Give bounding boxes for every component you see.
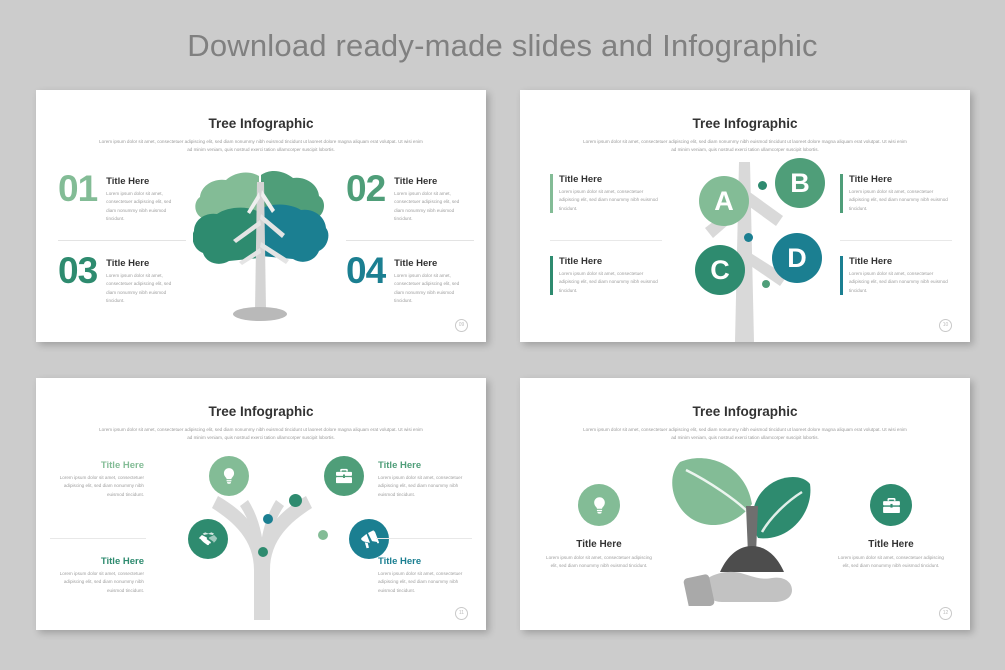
item-number: 02 bbox=[346, 172, 385, 206]
icon-circle-briefcase[interactable] bbox=[870, 484, 912, 526]
item-number: 01 bbox=[58, 172, 97, 206]
slide-4-title: Tree Infographic bbox=[520, 404, 970, 419]
divider-right bbox=[376, 538, 472, 539]
icon-circle-handshake[interactable] bbox=[188, 519, 228, 559]
accent-dot bbox=[289, 494, 302, 507]
page-number-badge: 11 bbox=[455, 607, 468, 620]
item-title: Title Here bbox=[559, 174, 662, 185]
accent-dot bbox=[744, 233, 753, 242]
item-title: Title Here bbox=[106, 176, 182, 187]
item-body: Lorem ipsum dolor sit amet, consectetuer… bbox=[106, 190, 182, 223]
slide-2-item-3[interactable]: Title Here Lorem ipsum dolor sit amet, c… bbox=[550, 256, 662, 295]
handshake-icon bbox=[197, 528, 219, 550]
slide-card-3[interactable]: Tree Infographic Lorem ipsum dolor sit a… bbox=[36, 378, 486, 630]
item-title: Title Here bbox=[394, 258, 470, 269]
item-number: 04 bbox=[346, 254, 385, 288]
slide-1-item-3[interactable]: 03 Title Here Lorem ipsum dolor sit amet… bbox=[58, 254, 182, 305]
page-title: Download ready-made slides and Infograph… bbox=[0, 28, 1005, 64]
item-title: Title Here bbox=[559, 256, 662, 267]
item-number: 03 bbox=[58, 254, 97, 288]
slide-4-item-1[interactable]: Title Here Lorem ipsum dolor sit amet, c… bbox=[544, 484, 654, 571]
divider-right bbox=[840, 240, 952, 241]
lightbulb-icon bbox=[589, 495, 610, 516]
divider-left bbox=[58, 240, 186, 241]
slide-1-item-4[interactable]: 04 Title Here Lorem ipsum dolor sit amet… bbox=[346, 254, 470, 305]
accent-dot bbox=[318, 530, 328, 540]
item-body: Lorem ipsum dolor sit amet, consectetuer… bbox=[559, 188, 662, 213]
item-body: Lorem ipsum dolor sit amet, consectetuer… bbox=[849, 270, 952, 295]
slide-1-item-1[interactable]: 01 Title Here Lorem ipsum dolor sit amet… bbox=[58, 172, 182, 223]
item-body: Lorem ipsum dolor sit amet, consectetuer… bbox=[394, 272, 470, 305]
item-title: Title Here bbox=[54, 556, 144, 567]
slide-card-1[interactable]: Tree Infographic Lorem ipsum dolor sit a… bbox=[36, 90, 486, 342]
briefcase-icon bbox=[881, 495, 902, 516]
slide-3-item-4[interactable]: Title Here Lorem ipsum dolor sit amet, c… bbox=[378, 556, 468, 595]
slide-4-item-2[interactable]: Title Here Lorem ipsum dolor sit amet, c… bbox=[836, 484, 946, 571]
megaphone-icon bbox=[359, 529, 380, 550]
slide-2-item-2[interactable]: Title Here Lorem ipsum dolor sit amet, c… bbox=[840, 174, 952, 213]
item-title: Title Here bbox=[394, 176, 470, 187]
item-title: Title Here bbox=[849, 256, 952, 267]
letter-circle-d[interactable]: D bbox=[772, 233, 822, 283]
accent-dot bbox=[263, 514, 273, 524]
slide-1-subtitle: Lorem ipsum dolor sit amet, consectetuer… bbox=[96, 138, 426, 154]
slide-1-title: Tree Infographic bbox=[36, 116, 486, 131]
icon-circle-lightbulb[interactable] bbox=[209, 456, 249, 496]
slide-3-item-2[interactable]: Title Here Lorem ipsum dolor sit amet, c… bbox=[378, 460, 468, 499]
item-body: Lorem ipsum dolor sit amet, consectetuer… bbox=[106, 272, 182, 305]
item-body: Lorem ipsum dolor sit amet, consectetuer… bbox=[54, 570, 144, 595]
item-body: Lorem ipsum dolor sit amet, consectetuer… bbox=[544, 554, 654, 571]
item-body: Lorem ipsum dolor sit amet, consectetuer… bbox=[54, 474, 144, 499]
sprout-hand-illustration bbox=[662, 446, 828, 611]
icon-circle-briefcase[interactable] bbox=[324, 456, 364, 496]
item-body: Lorem ipsum dolor sit amet, consectetuer… bbox=[849, 188, 952, 213]
accent-bar bbox=[840, 174, 843, 213]
accent-dot bbox=[758, 181, 767, 190]
slide-3-subtitle: Lorem ipsum dolor sit amet, consectetuer… bbox=[96, 426, 426, 442]
slide-4-subtitle: Lorem ipsum dolor sit amet, consectetuer… bbox=[580, 426, 910, 442]
divider-right bbox=[346, 240, 474, 241]
lightbulb-icon bbox=[219, 466, 239, 486]
page-number-badge: 12 bbox=[939, 607, 952, 620]
item-body: Lorem ipsum dolor sit amet, consectetuer… bbox=[378, 474, 468, 499]
item-title: Title Here bbox=[54, 460, 144, 471]
slide-2-subtitle: Lorem ipsum dolor sit amet, consectetuer… bbox=[580, 138, 910, 154]
slide-3-item-1[interactable]: Title Here Lorem ipsum dolor sit amet, c… bbox=[54, 460, 144, 499]
slide-card-2[interactable]: Tree Infographic Lorem ipsum dolor sit a… bbox=[520, 90, 970, 342]
letter-circle-a[interactable]: A bbox=[699, 176, 749, 226]
slide-2-item-4[interactable]: Title Here Lorem ipsum dolor sit amet, c… bbox=[840, 256, 952, 295]
letter-circle-b[interactable]: B bbox=[775, 158, 825, 208]
slide-2-title: Tree Infographic bbox=[520, 116, 970, 131]
accent-bar bbox=[550, 256, 553, 295]
page-number-badge: 09 bbox=[455, 319, 468, 332]
divider-left bbox=[50, 538, 146, 539]
tree-illustration bbox=[193, 162, 330, 337]
accent-bar bbox=[840, 256, 843, 295]
item-title: Title Here bbox=[836, 539, 946, 550]
slide-3-item-3[interactable]: Title Here Lorem ipsum dolor sit amet, c… bbox=[54, 556, 144, 595]
icon-circle-lightbulb[interactable] bbox=[578, 484, 620, 526]
item-body: Lorem ipsum dolor sit amet, consectetuer… bbox=[394, 190, 470, 223]
page-number-badge: 10 bbox=[939, 319, 952, 332]
item-title: Title Here bbox=[544, 539, 654, 550]
item-title: Title Here bbox=[106, 258, 182, 269]
letter-circle-c[interactable]: C bbox=[695, 245, 745, 295]
slide-3-title: Tree Infographic bbox=[36, 404, 486, 419]
accent-dot bbox=[762, 280, 770, 288]
item-title: Title Here bbox=[378, 556, 468, 567]
item-body: Lorem ipsum dolor sit amet, consectetuer… bbox=[836, 554, 946, 571]
item-title: Title Here bbox=[378, 460, 468, 471]
item-title: Title Here bbox=[849, 174, 952, 185]
accent-dot bbox=[258, 547, 268, 557]
item-body: Lorem ipsum dolor sit amet, consectetuer… bbox=[559, 270, 662, 295]
slide-card-4[interactable]: Tree Infographic Lorem ipsum dolor sit a… bbox=[520, 378, 970, 630]
divider-left bbox=[550, 240, 662, 241]
accent-bar bbox=[550, 174, 553, 213]
item-body: Lorem ipsum dolor sit amet, consectetuer… bbox=[378, 570, 468, 595]
slide-2-item-1[interactable]: Title Here Lorem ipsum dolor sit amet, c… bbox=[550, 174, 662, 213]
icon-circle-megaphone[interactable] bbox=[349, 519, 389, 559]
briefcase-icon bbox=[334, 466, 354, 486]
slide-1-item-2[interactable]: 02 Title Here Lorem ipsum dolor sit amet… bbox=[346, 172, 470, 223]
